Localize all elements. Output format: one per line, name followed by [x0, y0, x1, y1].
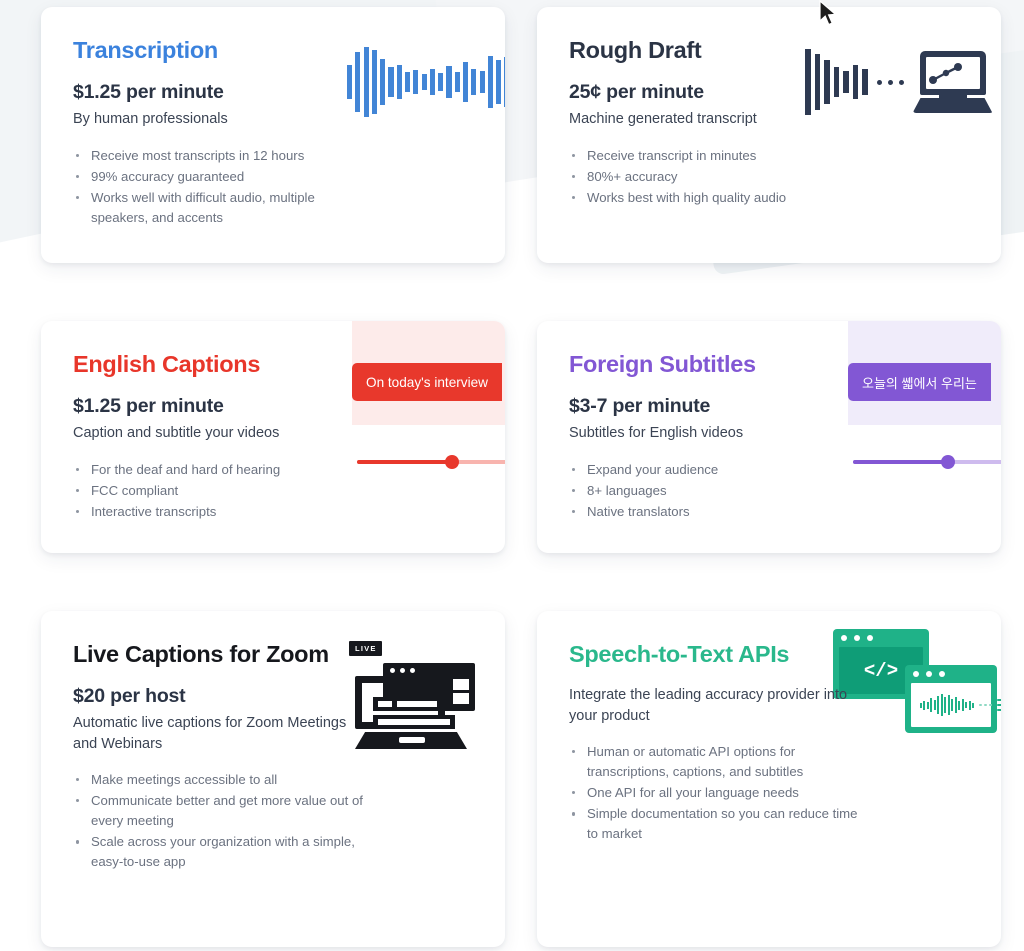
list-item: Receive transcript in minutes: [569, 146, 869, 166]
card-subtitle: Integrate the leading accuracy provider …: [569, 685, 869, 726]
text-lines-icon: [997, 699, 1001, 712]
window-dots-icon: [913, 671, 945, 677]
card-title: Transcription: [73, 37, 373, 64]
caption-preview-panel: 오늘의 쏇에서 우리는: [848, 321, 1001, 425]
card-rough-draft[interactable]: Rough Draft 25¢ per minute Machine gener…: [537, 7, 1001, 263]
card-title: Rough Draft: [569, 37, 869, 64]
card-live-captions-zoom[interactable]: LIVE Live Captions for Zoom $20 per host…: [41, 611, 505, 947]
card-subtitle: Subtitles for English videos: [569, 423, 869, 444]
dots-icon: [979, 704, 991, 706]
card-title: Live Captions for Zoom: [73, 641, 373, 668]
list-item: Receive most transcripts in 12 hours: [73, 146, 373, 166]
list-item: Communicate better and get more value ou…: [73, 791, 373, 831]
list-item: Expand your audience: [569, 460, 869, 480]
card-english-captions[interactable]: On today's interview English Captions $1…: [41, 321, 505, 553]
card-content: Rough Draft 25¢ per minute Machine gener…: [569, 37, 869, 208]
card-price: $1.25 per minute: [73, 81, 373, 104]
caption-pill: On today's interview: [352, 363, 502, 401]
feature-list: Expand your audience 8+ languages Native…: [569, 460, 869, 522]
card-price: $20 per host: [73, 685, 373, 708]
list-item: 99% accuracy guaranteed: [73, 167, 373, 187]
caption-preview-panel: On today's interview: [352, 321, 505, 425]
slider-thumb[interactable]: [941, 455, 955, 469]
node-graph-icon: [926, 61, 966, 87]
list-item: Works best with high quality audio: [569, 188, 869, 208]
feature-list: Receive most transcripts in 12 hours 99%…: [73, 146, 373, 228]
card-price: $3-7 per minute: [569, 395, 869, 418]
feature-list: Make meetings accessible to all Communic…: [73, 770, 373, 872]
card-content: Foreign Subtitles $3-7 per minute Subtit…: [569, 351, 869, 522]
list-item: For the deaf and hard of hearing: [73, 460, 373, 480]
list-item: One API for all your language needs: [569, 783, 869, 803]
list-item: Simple documentation so you can reduce t…: [569, 804, 869, 844]
caption-pill: 오늘의 쏇에서 우리는: [848, 363, 991, 401]
audio-window-icon: [905, 665, 997, 733]
feature-list: For the deaf and hard of hearing FCC com…: [73, 460, 373, 522]
card-price: $1.25 per minute: [73, 395, 373, 418]
list-item: Human or automatic API options for trans…: [569, 742, 869, 782]
card-subtitle: Caption and subtitle your videos: [73, 423, 373, 444]
video-progress-slider[interactable]: [357, 454, 505, 470]
feature-list: Receive transcript in minutes 80%+ accur…: [569, 146, 869, 208]
feature-list: Human or automatic API options for trans…: [569, 742, 869, 844]
list-item: Native translators: [569, 502, 869, 522]
card-content: Speech-to-Text APIs Integrate the leadin…: [569, 641, 869, 844]
dots-icon: [877, 80, 904, 85]
card-title: English Captions: [73, 351, 373, 378]
card-content: Live Captions for Zoom $20 per host Auto…: [73, 641, 373, 872]
card-price: 25¢ per minute: [569, 81, 869, 104]
card-speech-to-text-apis[interactable]: </> Speech-to-Text APIs Integrate the le…: [537, 611, 1001, 947]
list-item: Interactive transcripts: [73, 502, 373, 522]
pricing-card-grid: Transcription $1.25 per minute By human …: [0, 0, 1024, 947]
list-item: 80%+ accuracy: [569, 167, 869, 187]
card-foreign-subtitles[interactable]: 오늘의 쏇에서 우리는 Foreign Subtitles $3-7 per m…: [537, 321, 1001, 553]
list-item: FCC compliant: [73, 481, 373, 501]
list-item: Make meetings accessible to all: [73, 770, 373, 790]
list-item: 8+ languages: [569, 481, 869, 501]
video-progress-slider[interactable]: [853, 454, 1001, 470]
card-title: Speech-to-Text APIs: [569, 641, 869, 668]
card-content: English Captions $1.25 per minute Captio…: [73, 351, 373, 522]
list-item: Scale across your organization with a si…: [73, 832, 373, 872]
list-item: Works well with difficult audio, multipl…: [73, 188, 373, 228]
laptop-icon: [913, 51, 993, 113]
card-transcription[interactable]: Transcription $1.25 per minute By human …: [41, 7, 505, 263]
slider-thumb[interactable]: [445, 455, 459, 469]
waveform-icon: [920, 694, 974, 716]
card-subtitle: Automatic live captions for Zoom Meeting…: [73, 713, 373, 754]
card-title: Foreign Subtitles: [569, 351, 869, 378]
card-content: Transcription $1.25 per minute By human …: [73, 37, 373, 228]
card-subtitle: By human professionals: [73, 109, 373, 130]
card-subtitle: Machine generated transcript: [569, 109, 869, 130]
